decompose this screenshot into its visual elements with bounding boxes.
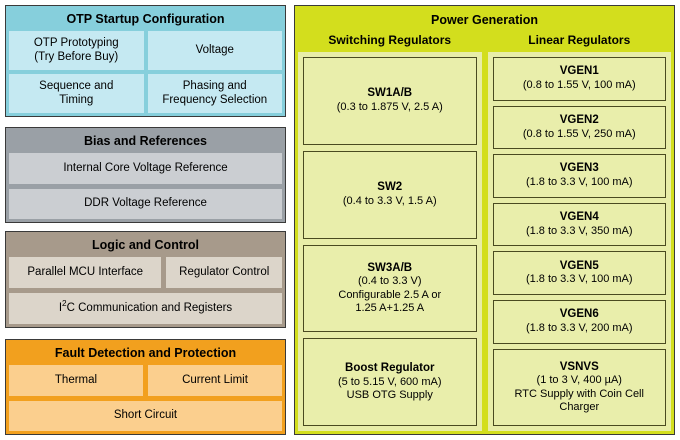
vgen6-spec: (1.8 to 3.3 V, 200 mA) — [526, 322, 633, 335]
parallel-mcu-interface-block[interactable]: Parallel MCU Interface — [9, 257, 161, 288]
otp-prototyping-block[interactable]: OTP Prototyping (Try Before Buy) — [9, 31, 144, 70]
sw3ab-spec-3: 1.25 A+1.25 A — [355, 302, 424, 315]
vgen1-name: VGEN1 — [560, 65, 599, 79]
sw3ab-spec-2: Configurable 2.5 A or — [338, 289, 441, 302]
logic-row-1: Parallel MCU Interface Regulator Control — [9, 257, 282, 288]
vsnvs-spec-1: (1 to 3 V, 400 µA) — [537, 374, 622, 387]
block-diagram: OTP Startup Configuration OTP Prototypin… — [0, 0, 680, 440]
vgen6-block[interactable]: VGEN6 (1.8 to 3.3 V, 200 mA) — [493, 300, 667, 344]
voltage-block[interactable]: Voltage — [148, 31, 283, 70]
bias-row-1: Internal Core Voltage Reference — [9, 153, 282, 184]
fault-row-2: Short Circuit — [9, 401, 282, 432]
power-generation-columns: Switching Regulators SW1A/B (0.3 to 1.87… — [298, 33, 671, 431]
otp-startup-configuration-panel: OTP Startup Configuration OTP Prototypin… — [5, 5, 286, 117]
i2c-communication-registers-block[interactable]: I2C Communication and Registers — [9, 293, 282, 324]
vgen5-block[interactable]: VGEN5 (1.8 to 3.3 V, 100 mA) — [493, 251, 667, 295]
i2c-suffix: C Communication and Registers — [67, 302, 233, 314]
power-generation-title: Power Generation — [298, 9, 671, 33]
vgen6-name: VGEN6 — [560, 308, 599, 322]
bias-row-2: DDR Voltage Reference — [9, 189, 282, 220]
vsnvs-name: VSNVS — [560, 361, 599, 375]
switching-regulators-list: SW1A/B (0.3 to 1.875 V, 2.5 A) SW2 (0.4 … — [298, 52, 482, 431]
vgen1-block[interactable]: VGEN1 (0.8 to 1.55 V, 100 mA) — [493, 57, 667, 101]
vgen2-spec: (0.8 to 1.55 V, 250 mA) — [523, 128, 636, 141]
linear-regulators-heading: Linear Regulators — [488, 33, 672, 52]
ddr-voltage-reference-block[interactable]: DDR Voltage Reference — [9, 189, 282, 220]
sw1ab-block[interactable]: SW1A/B (0.3 to 1.875 V, 2.5 A) — [303, 57, 477, 145]
boost-regulator-spec-2: USB OTG Supply — [347, 389, 433, 402]
sw2-block[interactable]: SW2 (0.4 to 3.3 V, 1.5 A) — [303, 151, 477, 239]
sequence-timing-line-1: Sequence and — [39, 80, 113, 93]
phasing-frequency-line-2: Frequency Selection — [162, 94, 267, 107]
sw1ab-spec: (0.3 to 1.875 V, 2.5 A) — [337, 101, 443, 114]
otp-prototyping-line-1: OTP Prototyping — [34, 37, 119, 50]
otp-row-2: Sequence and Timing Phasing and Frequenc… — [9, 74, 282, 113]
current-limit-block[interactable]: Current Limit — [148, 365, 282, 396]
otp-row-1: OTP Prototyping (Try Before Buy) Voltage — [9, 31, 282, 70]
linear-regulators-list: VGEN1 (0.8 to 1.55 V, 100 mA) VGEN2 (0.8… — [488, 52, 672, 431]
vgen5-spec: (1.8 to 3.3 V, 100 mA) — [526, 273, 633, 286]
switching-regulators-heading: Switching Regulators — [298, 33, 482, 52]
parallel-mcu-interface-label: Parallel MCU Interface — [27, 266, 143, 279]
fault-row-1: Thermal Current Limit — [9, 365, 282, 396]
sw2-name: SW2 — [377, 181, 402, 195]
logic-row-2: I2C Communication and Registers — [9, 293, 282, 324]
logic-and-control-panel: Logic and Control Parallel MCU Interface… — [5, 231, 286, 328]
vgen3-block[interactable]: VGEN3 (1.8 to 3.3 V, 100 mA) — [493, 154, 667, 198]
sw2-spec: (0.4 to 3.3 V, 1.5 A) — [343, 195, 437, 208]
regulator-control-block[interactable]: Regulator Control — [166, 257, 282, 288]
sw3ab-name: SW3A/B — [367, 262, 412, 276]
ddr-voltage-reference-label: DDR Voltage Reference — [84, 197, 207, 210]
vgen4-name: VGEN4 — [560, 211, 599, 225]
boost-regulator-spec-1: (5 to 5.15 V, 600 mA) — [338, 376, 442, 389]
i2c-label: I2C Communication and Registers — [59, 302, 232, 315]
otp-prototyping-line-2: (Try Before Buy) — [34, 51, 118, 64]
boost-regulator-block[interactable]: Boost Regulator (5 to 5.15 V, 600 mA) US… — [303, 338, 477, 426]
switching-regulators-column: Switching Regulators SW1A/B (0.3 to 1.87… — [298, 33, 482, 431]
sequence-timing-line-2: Timing — [59, 94, 93, 107]
linear-regulators-column: Linear Regulators VGEN1 (0.8 to 1.55 V, … — [488, 33, 672, 431]
thermal-label: Thermal — [55, 374, 97, 387]
internal-core-voltage-reference-label: Internal Core Voltage Reference — [63, 162, 227, 175]
fault-panel-title: Fault Detection and Protection — [9, 343, 282, 365]
vgen4-block[interactable]: VGEN4 (1.8 to 3.3 V, 350 mA) — [493, 203, 667, 247]
sw3ab-block[interactable]: SW3A/B (0.4 to 3.3 V) Configurable 2.5 A… — [303, 245, 477, 333]
vgen5-name: VGEN5 — [560, 260, 599, 274]
bias-and-references-panel: Bias and References Internal Core Voltag… — [5, 127, 286, 223]
vgen1-spec: (0.8 to 1.55 V, 100 mA) — [523, 79, 636, 92]
otp-panel-title: OTP Startup Configuration — [9, 9, 282, 31]
vsnvs-spec-2: RTC Supply with Coin Cell — [515, 388, 644, 401]
vgen2-name: VGEN2 — [560, 114, 599, 128]
power-generation-panel: Power Generation Switching Regulators SW… — [294, 5, 675, 435]
bias-panel-title: Bias and References — [9, 131, 282, 153]
sw1ab-name: SW1A/B — [367, 87, 412, 101]
voltage-label: Voltage — [196, 44, 234, 57]
regulator-control-label: Regulator Control — [179, 266, 269, 279]
sw3ab-spec-1: (0.4 to 3.3 V) — [358, 275, 422, 288]
vgen4-spec: (1.8 to 3.3 V, 350 mA) — [526, 225, 633, 238]
vsnvs-block[interactable]: VSNVS (1 to 3 V, 400 µA) RTC Supply with… — [493, 349, 667, 426]
vgen3-name: VGEN3 — [560, 162, 599, 176]
current-limit-label: Current Limit — [182, 374, 248, 387]
vsnvs-spec-3: Charger — [559, 401, 599, 414]
boost-regulator-name: Boost Regulator — [345, 362, 434, 376]
logic-panel-title: Logic and Control — [9, 235, 282, 257]
vgen2-block[interactable]: VGEN2 (0.8 to 1.55 V, 250 mA) — [493, 106, 667, 150]
fault-detection-and-protection-panel: Fault Detection and Protection Thermal C… — [5, 339, 286, 435]
short-circuit-block[interactable]: Short Circuit — [9, 401, 282, 432]
internal-core-voltage-reference-block[interactable]: Internal Core Voltage Reference — [9, 153, 282, 184]
thermal-block[interactable]: Thermal — [9, 365, 143, 396]
short-circuit-label: Short Circuit — [114, 409, 177, 422]
vgen3-spec: (1.8 to 3.3 V, 100 mA) — [526, 176, 633, 189]
phasing-frequency-line-1: Phasing and — [183, 80, 247, 93]
sequence-timing-block[interactable]: Sequence and Timing — [9, 74, 144, 113]
phasing-frequency-block[interactable]: Phasing and Frequency Selection — [148, 74, 283, 113]
